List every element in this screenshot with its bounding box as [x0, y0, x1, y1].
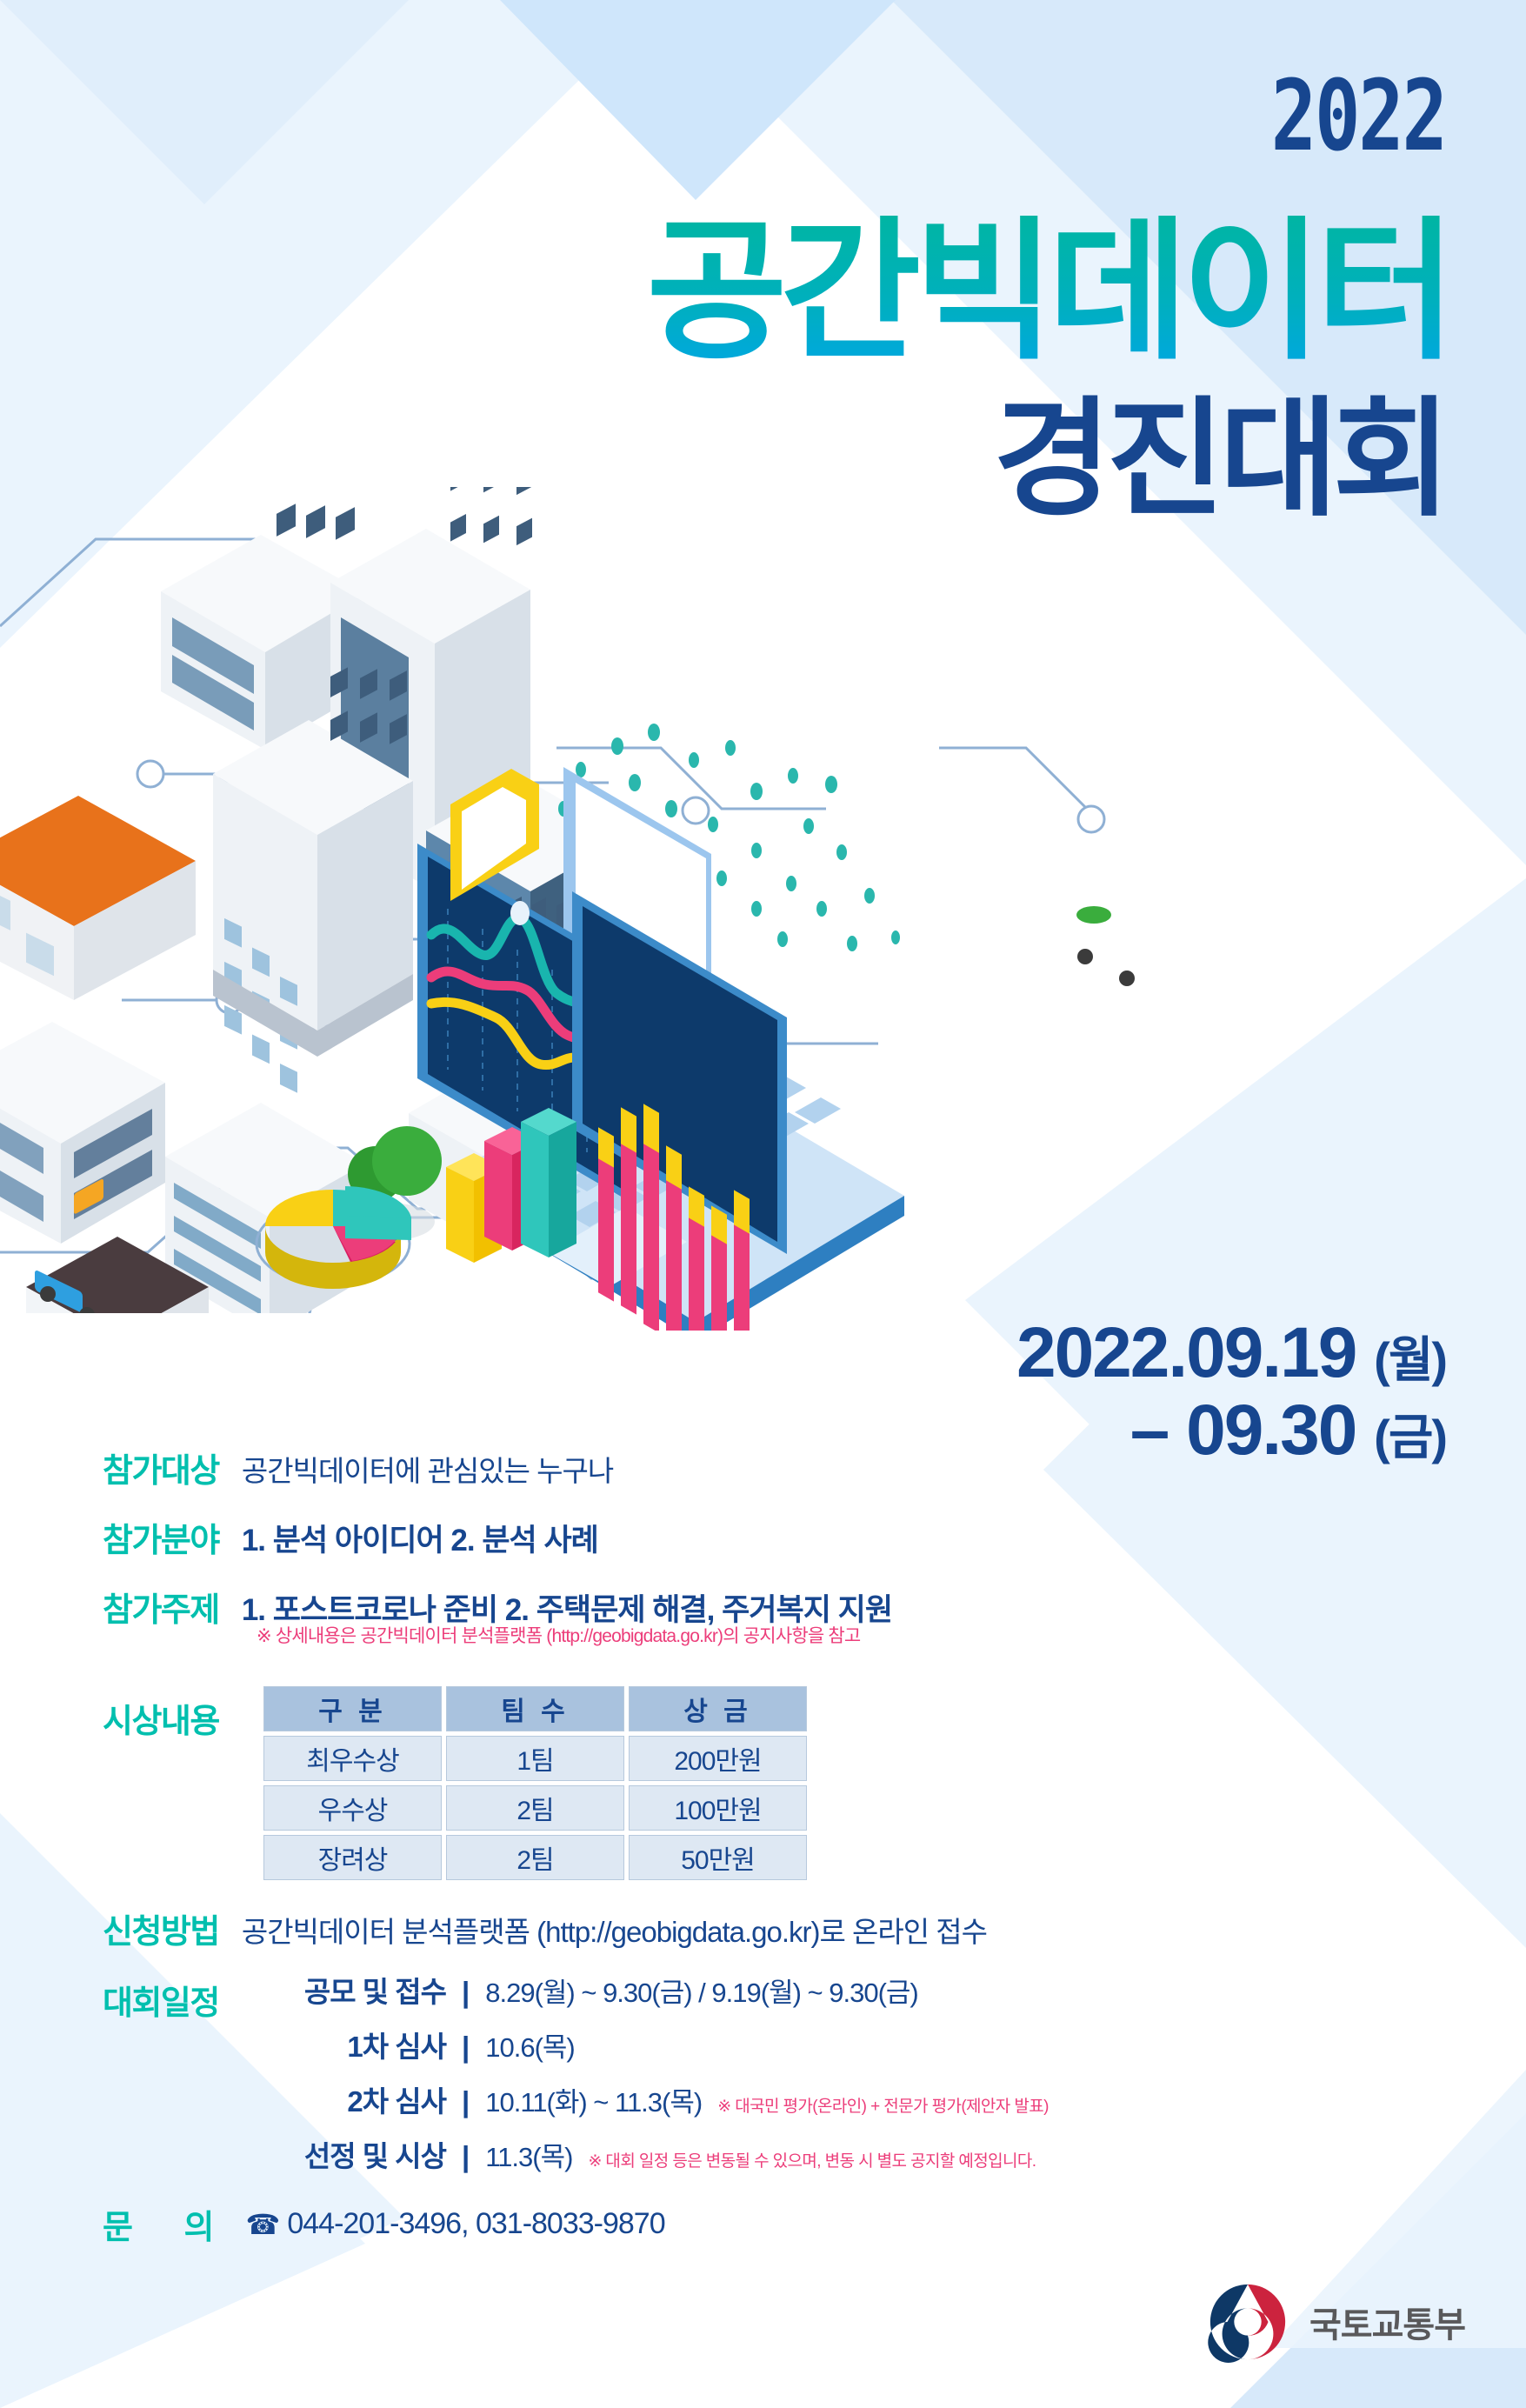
contact-section: 문 의 ☎ 044-201-3496, 031-8033-9870	[103, 2200, 665, 2248]
ministry-logo: 국토교통부	[1205, 2279, 1465, 2365]
pie-chart-3d	[265, 1186, 411, 1289]
schedule-value: 11.3(목)	[485, 2135, 572, 2174]
phone-icon: ☎	[245, 2208, 280, 2241]
building-wide-left	[0, 1022, 165, 1244]
schedule-note: ※ 대국민 평가(온라인) + 전문가 평가(제안자 발표)	[717, 2093, 1049, 2117]
poster-year: 2022	[1271, 68, 1446, 165]
table-cell-category: 장려상	[263, 1835, 442, 1880]
schedule-row: 2차 심사 | 10.11(화) ~ 11.3(목) ※ 대국민 평가(온라인)…	[0, 2078, 1526, 2120]
info-row-field: 참가분야 1. 분석 아이디어 2. 분석 사례	[103, 1513, 598, 1561]
schedule-value: 10.6(목)	[485, 2025, 575, 2064]
poster-title-main: 공간빅데이터	[646, 216, 1449, 369]
schedule-key: 선정 및 시상	[259, 2133, 446, 2175]
schedule-divider: |	[462, 2140, 470, 2173]
value-field: 1. 분석 아이디어 2. 분석 사례	[242, 1513, 598, 1560]
schedule-key: 2차 심사	[259, 2078, 446, 2120]
date-start: 2022.09.19	[1016, 1313, 1356, 1392]
bar-blocks-3d	[446, 1108, 576, 1263]
event-date-block: 2022.09.19 (월) – 09.30 (금)	[1016, 1315, 1446, 1469]
date-end: – 09.30	[1130, 1391, 1356, 1470]
table-cell-category: 우수상	[263, 1785, 442, 1831]
poster-title-sub: 경진대회	[993, 396, 1446, 524]
table-cell-teams: 2팀	[446, 1835, 624, 1880]
label-target: 참가대상	[103, 1444, 219, 1491]
schedule-section: 공모 및 접수 | 8.29(월) ~ 9.30(금) / 9.19(월) ~ …	[0, 1969, 1526, 2188]
value-contact: 044-201-3496, 031-8033-9870	[287, 2207, 664, 2241]
schedule-key: 1차 심사	[259, 2024, 446, 2065]
label-topic: 참가주제	[103, 1583, 219, 1631]
event-date-line-1: 2022.09.19 (월)	[1016, 1315, 1446, 1392]
info-row-apply: 신청방법 공간빅데이터 분석플랫폼 (http://geobigdata.go.…	[103, 1904, 987, 1952]
table-cell-prize: 50만원	[629, 1835, 807, 1880]
table-header-row: 구 분 팀 수 상 금	[263, 1686, 807, 1731]
label-field: 참가분야	[103, 1513, 219, 1561]
table-cell-teams: 1팀	[446, 1736, 624, 1781]
schedule-key: 공모 및 접수	[259, 1969, 446, 2011]
ministry-name: 국토교통부	[1309, 2297, 1465, 2347]
schedule-row: 1차 심사 | 10.6(목)	[0, 2024, 1526, 2065]
schedule-row: 공모 및 접수 | 8.29(월) ~ 9.30(금) / 9.19(월) ~ …	[0, 1969, 1526, 2011]
date-end-weekday: (금)	[1374, 1410, 1446, 1464]
info-row-target: 참가대상 공간빅데이터에 관심있는 누구나	[103, 1444, 613, 1491]
label-contact: 문 의	[103, 2200, 235, 2248]
pie-and-bars-illustration	[222, 1087, 656, 1331]
schedule-divider: |	[462, 2031, 470, 2064]
date-start-weekday: (월)	[1374, 1332, 1446, 1387]
table-cell-category: 최우수상	[263, 1736, 442, 1781]
table-row: 장려상 2팀 50만원	[263, 1835, 807, 1880]
korea-government-emblem-icon	[1205, 2279, 1290, 2365]
table-header-cell: 구 분	[263, 1686, 442, 1731]
table-header-cell: 팀 수	[446, 1686, 624, 1731]
schedule-row: 선정 및 시상 | 11.3(목) ※ 대회 일정 등은 변동될 수 있으며, …	[0, 2133, 1526, 2175]
value-target: 공간빅데이터에 관심있는 누구나	[242, 1444, 613, 1490]
event-date-line-2: – 09.30 (금)	[1016, 1392, 1446, 1470]
schedule-note: ※ 대회 일정 등은 변동될 수 있으며, 변동 시 별도 공지할 예정입니다.	[588, 2148, 1036, 2171]
house-orange	[0, 796, 196, 1000]
table-row: 최우수상 1팀 200만원	[263, 1736, 807, 1781]
schedule-value: 8.29(월) ~ 9.30(금) / 9.19(월) ~ 9.30(금)	[485, 1971, 918, 2010]
award-table: 구 분 팀 수 상 금 최우수상 1팀 200만원 우수상 2팀 100만원 장…	[259, 1682, 811, 1884]
label-award: 시상내용	[103, 1694, 219, 1742]
topic-note: ※ 상세내용은 공간빅데이터 분석플랫폼 (http://geobigdata.…	[257, 1622, 860, 1648]
table-cell-teams: 2팀	[446, 1785, 624, 1831]
label-apply: 신청방법	[103, 1904, 219, 1952]
value-apply: 공간빅데이터 분석플랫폼 (http://geobigdata.go.kr)로 …	[242, 1904, 987, 1951]
schedule-divider: |	[462, 2085, 470, 2118]
schedule-value: 10.11(화) ~ 11.3(목)	[485, 2080, 702, 2119]
schedule-divider: |	[462, 1976, 470, 2009]
table-cell-prize: 100만원	[629, 1785, 807, 1831]
table-cell-prize: 200만원	[629, 1736, 807, 1781]
table-header-cell: 상 금	[629, 1686, 807, 1731]
table-row: 우수상 2팀 100만원	[263, 1785, 807, 1831]
